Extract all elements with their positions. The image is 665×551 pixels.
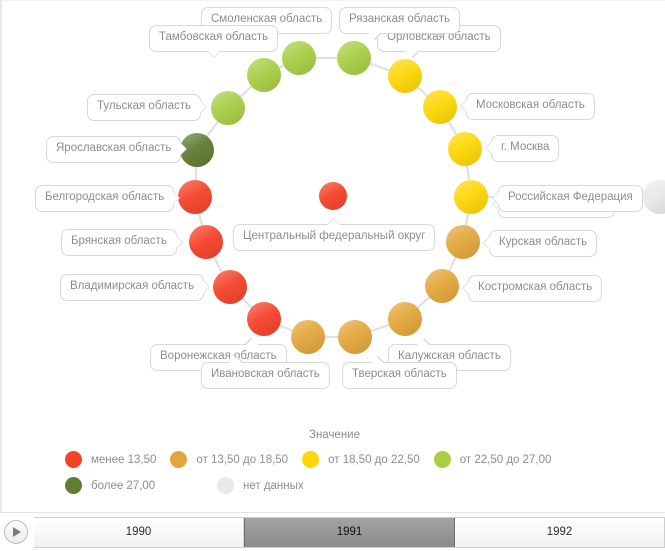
node-smolensk[interactable] [282, 41, 316, 75]
node-tver[interactable] [338, 320, 372, 354]
callout-belgorod[interactable]: Белгородская область [35, 185, 174, 212]
callout-ivanovo[interactable]: Ивановская область [201, 362, 330, 389]
callout-voronezh-label: Воронежская область [160, 350, 277, 362]
node-ivanovo[interactable] [291, 320, 325, 354]
callout-tip-inner [461, 100, 467, 112]
legend-swatch-icon [65, 451, 82, 468]
callout-tambov-label: Тамбовская область [159, 31, 268, 43]
callout-bryansk[interactable]: Брянская область [61, 229, 177, 256]
legend-row: более 27,00 нет данных [2, 477, 665, 494]
node-bryansk[interactable] [189, 225, 223, 259]
legend-label: менее 13,50 [91, 454, 156, 466]
callout-belgorod-label: Белгородская область [45, 191, 164, 203]
node-moscow-oblast[interactable] [423, 90, 457, 124]
callout-vladimir[interactable]: Владимирская область [60, 274, 204, 301]
year-label: 1992 [547, 526, 573, 538]
node-vladimir[interactable] [213, 270, 247, 304]
legend-swatch-icon [434, 451, 451, 468]
callout-kaluga-label: Калужская область [398, 350, 501, 362]
callout-russian-federation[interactable]: Российская Федерация [498, 185, 643, 212]
legend-swatch-icon [170, 451, 187, 468]
callout-tambov[interactable]: Тамбовская область [149, 25, 278, 52]
legend-title: Значение [2, 429, 665, 441]
callout-ryazan-label: Рязанская область [349, 13, 450, 25]
node-tula[interactable] [211, 91, 245, 125]
legend-item-more-27-00[interactable]: более 27,00 [65, 477, 217, 494]
callout-tip-inner [417, 339, 429, 345]
timeline-slider: 1990 1991 1992 [0, 512, 665, 551]
legend-label: более 27,00 [91, 480, 155, 492]
legend-label: от 22,50 до 27,00 [460, 454, 552, 466]
callout-moscow-oblast-label: Московская область [476, 99, 585, 111]
node-kursk[interactable] [446, 225, 480, 259]
callout-tip-inner [328, 219, 340, 225]
node-belgorod[interactable] [178, 180, 212, 214]
callout-moscow-city[interactable]: г. Москва [491, 135, 559, 162]
legend-swatch-icon [65, 477, 82, 494]
callout-tula-label: Тульская область [97, 100, 191, 112]
callout-ivanovo-label: Ивановская область [211, 368, 320, 380]
callout-tip-inner [486, 142, 492, 154]
legend-swatch-icon [302, 451, 319, 468]
node-russian-federation[interactable] [454, 180, 488, 214]
callout-central-district[interactable]: Центральный федеральный округ [233, 224, 435, 251]
callout-bryansk-label: Брянская область [71, 235, 167, 247]
callout-tip-inner [208, 51, 220, 57]
chart-frame: Смоленская область Тамбовская область Ор… [0, 0, 665, 512]
callout-tip-inner [180, 143, 186, 155]
callout-kursk-label: Курская область [499, 236, 587, 248]
node-ryazan[interactable] [337, 41, 371, 75]
year-label: 1991 [337, 526, 363, 538]
callout-yaroslavl[interactable]: Ярославская область [46, 136, 181, 163]
legend-label: нет данных [243, 480, 304, 492]
callout-kostroma[interactable]: Костромская область [468, 275, 602, 302]
legend-item-18-50-to-22-50[interactable]: от 18,50 до 22,50 [302, 451, 420, 468]
callout-tula[interactable]: Тульская область [87, 94, 201, 121]
callout-kursk[interactable]: Курская область [489, 230, 597, 257]
callout-tip-inner [230, 357, 242, 363]
legend-label: от 13,50 до 18,50 [196, 454, 288, 466]
node-tambov[interactable] [247, 58, 281, 92]
play-icon [13, 527, 21, 537]
callout-tip-inner [371, 357, 383, 363]
node-voronezh[interactable] [247, 302, 281, 336]
callout-vladimir-label: Владимирская область [70, 280, 194, 292]
year-cell-1990[interactable]: 1990 [34, 518, 244, 547]
legend-item-no-data[interactable]: нет данных [217, 477, 304, 494]
legend-item-less-13-50[interactable]: менее 13,50 [65, 451, 156, 468]
play-button[interactable] [4, 520, 28, 544]
node-kaluga[interactable] [388, 302, 422, 336]
callout-ryazan[interactable]: Рязанская область [339, 7, 460, 34]
callout-tip-inner [173, 192, 179, 204]
callout-tip-inner [368, 33, 380, 39]
callout-tip-inner [203, 281, 209, 293]
callout-tip-inner [463, 282, 469, 294]
legend-swatch-icon [217, 477, 234, 494]
bubble-ring-chart-app: Смоленская область Тамбовская область Ор… [0, 0, 665, 551]
callout-tip-inner [406, 51, 418, 57]
callout-smolensk-label: Смоленская область [211, 13, 322, 25]
callout-tver-label: Тверская область [352, 368, 447, 380]
callout-central-district-label: Центральный федеральный округ [243, 230, 425, 242]
callout-moscow-city-label: г. Москва [501, 141, 549, 153]
legend-label: от 18,50 до 22,50 [328, 454, 420, 466]
legend: Значение менее 13,50 от 13,50 до 18,50 о… [2, 429, 665, 503]
callout-tip-inner [246, 339, 258, 345]
ring-plot-area: Смоленская область Тамбовская область Ор… [2, 1, 665, 411]
year-label: 1990 [126, 526, 152, 538]
callout-tip-inner [176, 236, 182, 248]
callout-moscow-oblast[interactable]: Московская область [466, 93, 595, 120]
legend-item-22-50-to-27-00[interactable]: от 22,50 до 27,00 [434, 451, 552, 468]
callout-tver[interactable]: Тверская область [342, 362, 457, 389]
callout-tip-inner [200, 101, 206, 113]
callout-tip-inner [493, 192, 499, 204]
year-cell-1992[interactable]: 1992 [455, 518, 664, 547]
node-central-district[interactable] [319, 182, 347, 210]
year-track[interactable]: 1990 1991 1992 [34, 517, 665, 548]
node-moscow-city[interactable] [448, 132, 482, 166]
callout-russian-federation-label: Российская Федерация [508, 191, 633, 203]
node-orel[interactable] [388, 59, 422, 93]
legend-row: менее 13,50 от 13,50 до 18,50 от 18,50 д… [2, 451, 665, 468]
callout-yaroslavl-label: Ярославская область [56, 142, 171, 154]
legend-item-13-50-to-18-50[interactable]: от 13,50 до 18,50 [170, 451, 288, 468]
callout-kostroma-label: Костромская область [478, 281, 592, 293]
node-kostroma[interactable] [425, 269, 459, 303]
year-cell-1991[interactable]: 1991 [244, 518, 455, 547]
callout-tip-inner [484, 237, 490, 249]
